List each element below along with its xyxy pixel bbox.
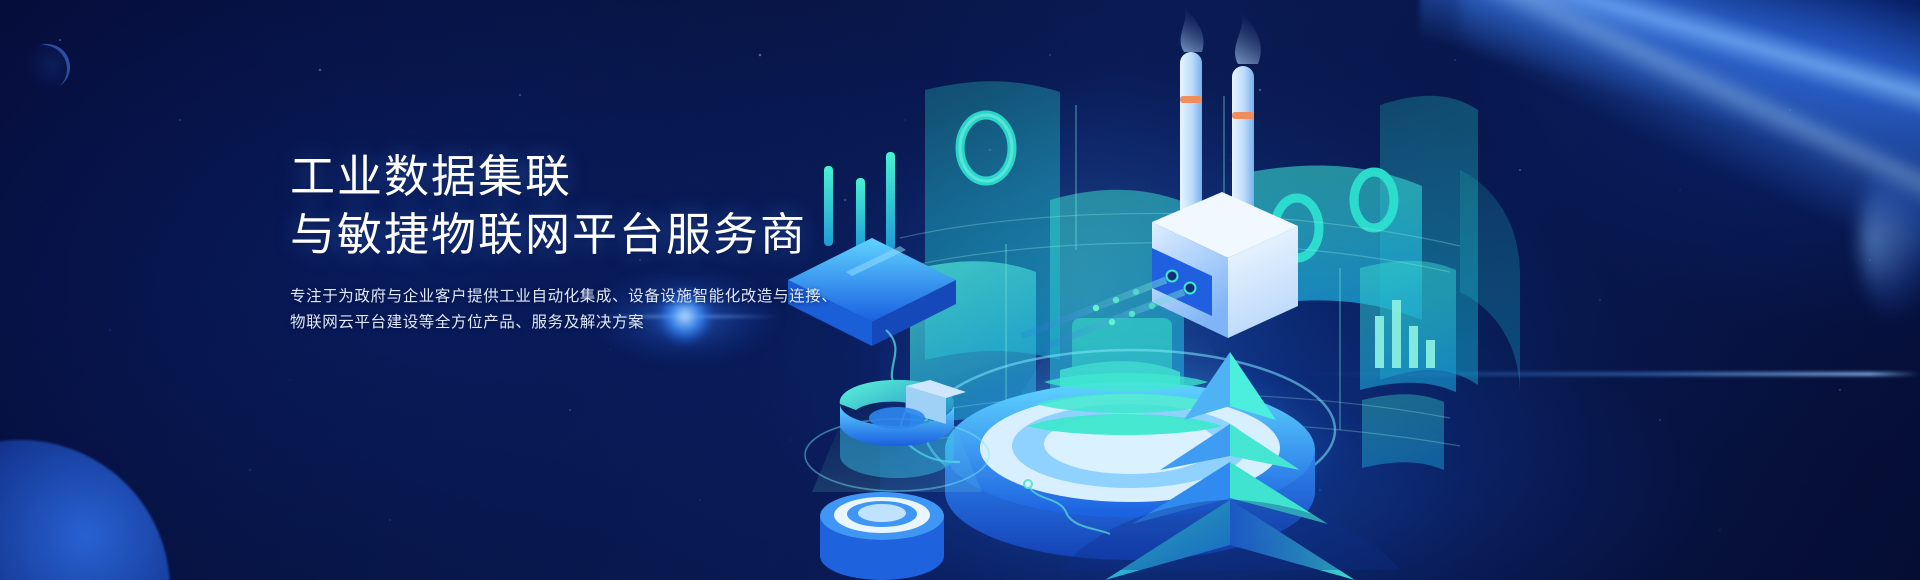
headline-line-2: 与敏捷物联网平台服务商 [290,206,930,264]
subcopy-line-2: 物联网云平台建设等全方位产品、服务及解决方案 [290,310,930,336]
server-inner-hole [869,407,925,429]
glow-disc-lower [820,492,944,580]
hero-subcopy: 专注于为政府与企业客户提供工业自动化集成、设备设施智能化改造与连接、 物联网云平… [290,284,930,336]
isometric-illustration [760,0,1920,580]
hero-banner: 工业数据集联 与敏捷物联网平台服务商 专注于为政府与企业客户提供工业自动化集成、… [0,0,1920,580]
hero-copy: 工业数据集联 与敏捷物联网平台服务商 专注于为政府与企业客户提供工业自动化集成、… [290,148,930,336]
headline-line-1: 工业数据集联 [290,148,930,206]
holo-panel-right-lower [1360,261,1456,392]
factory-port-a [1167,271,1178,282]
planet-sphere [0,440,170,580]
factory-port-b [1185,283,1196,294]
chimney-band-right [1232,112,1254,119]
hero-headline: 工业数据集联 与敏捷物联网平台服务商 [290,148,930,264]
chimney-left [1180,52,1202,220]
crescent-moon-icon [24,44,70,90]
chimney-band-left [1180,96,1202,103]
base-data-discs [1028,373,1222,435]
smoke-right [1235,12,1261,64]
subcopy-line-1: 专注于为政府与企业客户提供工业自动化集成、设备设施智能化改造与连接、 [290,284,930,310]
smoke-left [1181,8,1204,52]
